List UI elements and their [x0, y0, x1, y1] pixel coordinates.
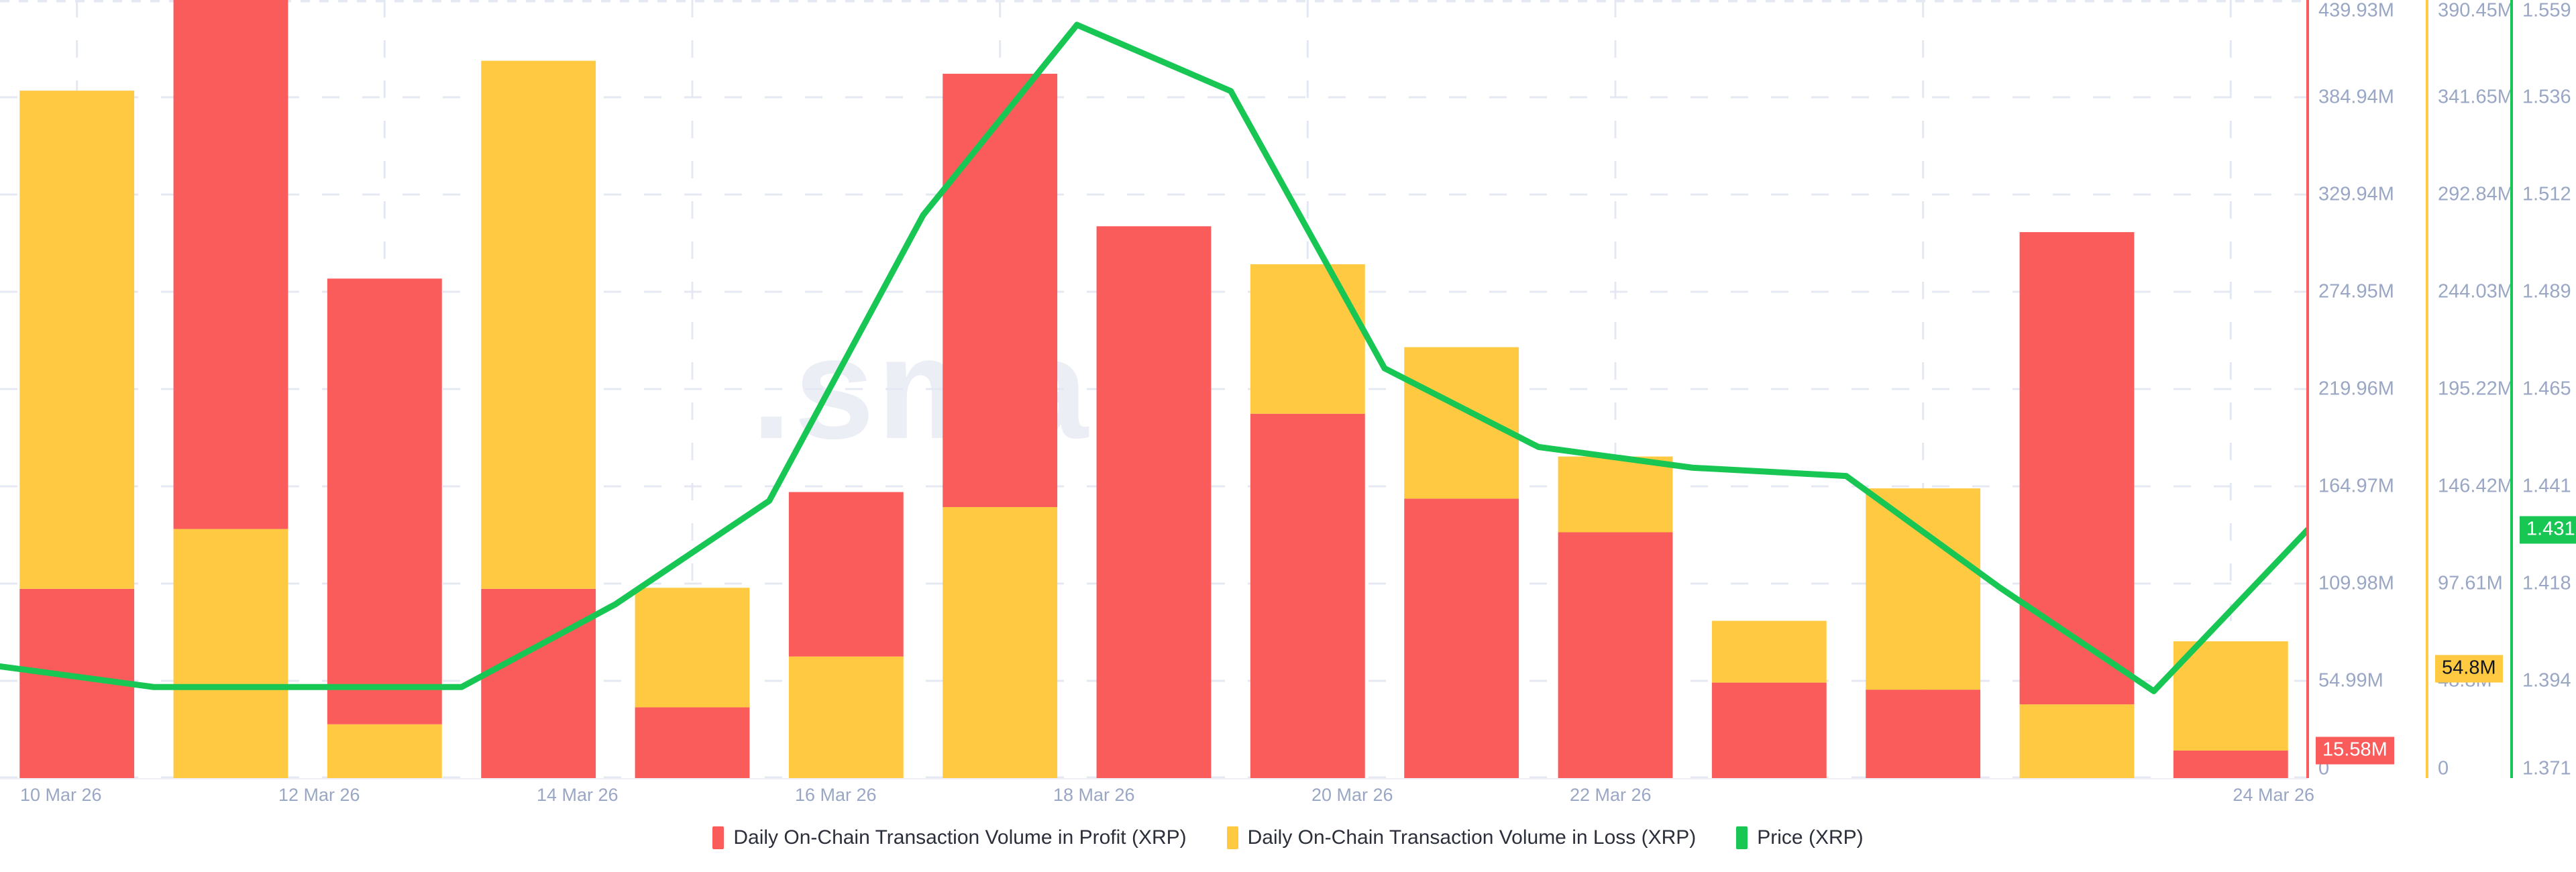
- axis-tick-label: 195.22M: [2438, 378, 2514, 400]
- axis-rule-profit: [2306, 0, 2309, 778]
- stacked-bar[interactable]: [2173, 641, 2288, 778]
- axis-tick-label: 274.95M: [2318, 281, 2394, 303]
- legend-label: Price (XRP): [1757, 826, 1863, 849]
- bar-segment-profit[interactable]: [1404, 498, 1519, 778]
- bar-segment-loss[interactable]: [19, 91, 134, 589]
- x-axis-tick-label: 10 Mar 26: [20, 785, 102, 806]
- bar-segment-loss[interactable]: [174, 529, 288, 778]
- axis-tick-label: 341.65M: [2438, 87, 2514, 109]
- x-axis-tick-label: 14 Mar 26: [537, 785, 619, 806]
- axis-value-badge: 15.58M: [2316, 737, 2394, 764]
- legend-swatch-icon: [712, 826, 724, 849]
- bar-segment-loss[interactable]: [1866, 488, 1980, 690]
- right-axis-profit: 439.93M384.94M329.94M274.95M219.96M164.9…: [2306, 0, 2434, 778]
- bar-segment-profit[interactable]: [2020, 232, 2135, 704]
- bar-segment-profit[interactable]: [635, 708, 750, 778]
- bar-segment-profit[interactable]: [1558, 532, 1673, 778]
- bar-segment-loss[interactable]: [789, 657, 904, 778]
- stacked-bar[interactable]: [1404, 347, 1519, 778]
- chart-legend[interactable]: Daily On-Chain Transaction Volume in Pro…: [0, 826, 2576, 849]
- bar-segment-loss[interactable]: [1558, 457, 1673, 533]
- x-axis-tick-label: 20 Mar 26: [1311, 785, 1393, 806]
- axis-tick-label: 54.99M: [2318, 670, 2383, 692]
- axis-tick-label: 1.536: [2522, 87, 2571, 109]
- axis-tick-label: 439.93M: [2318, 0, 2394, 22]
- axis-tick-label: 146.42M: [2438, 476, 2514, 498]
- bar-segment-profit[interactable]: [789, 492, 904, 657]
- bar-segment-loss[interactable]: [481, 61, 596, 589]
- legend-swatch-icon: [1736, 826, 1748, 849]
- bar-segment-loss[interactable]: [1250, 264, 1365, 414]
- stacked-bar[interactable]: [1712, 621, 1827, 778]
- stacked-bar[interactable]: [635, 588, 750, 778]
- axis-tick-label: 0: [2438, 758, 2449, 780]
- axis-tick-label: 164.97M: [2318, 476, 2394, 498]
- bar-segment-loss[interactable]: [327, 724, 442, 778]
- chart-svg: [0, 0, 2308, 778]
- x-axis-tick-label: 18 Mar 26: [1053, 785, 1135, 806]
- stacked-bar[interactable]: [1250, 264, 1365, 778]
- axis-tick-label: 244.03M: [2438, 281, 2514, 303]
- axis-tick-label: 390.45M: [2438, 0, 2514, 22]
- axis-tick-label: 1.512: [2522, 184, 2571, 206]
- x-axis-line: [0, 778, 2308, 779]
- axis-tick-label: 97.61M: [2438, 573, 2503, 595]
- bar-segment-profit[interactable]: [327, 278, 442, 724]
- bar-segment-loss[interactable]: [635, 588, 750, 707]
- bar-segment-profit[interactable]: [1712, 683, 1827, 778]
- axis-tick-label: 1.394: [2522, 670, 2571, 692]
- axis-tick-label: 1.418: [2522, 573, 2571, 595]
- bar-segment-loss[interactable]: [943, 507, 1057, 778]
- legend-swatch-icon: [1227, 826, 1238, 849]
- chart-page: .smar 10 Mar 2612 Mar 2614 Mar 2616 Mar …: [0, 0, 2576, 872]
- axis-tick-label: 1.465: [2522, 378, 2571, 400]
- axis-rule-loss: [2426, 0, 2428, 778]
- stacked-bar[interactable]: [174, 0, 288, 778]
- axis-tick-label: 1.489: [2522, 281, 2571, 303]
- bar-segment-loss[interactable]: [2173, 641, 2288, 751]
- x-axis-tick-label: 22 Mar 26: [1570, 785, 1652, 806]
- bar-segment-profit[interactable]: [481, 589, 596, 778]
- bar-segment-profit[interactable]: [1097, 226, 1212, 778]
- legend-label: Daily On-Chain Transaction Volume in Pro…: [733, 826, 1186, 849]
- legend-item[interactable]: Price (XRP): [1736, 826, 1863, 849]
- legend-item[interactable]: Daily On-Chain Transaction Volume in Los…: [1227, 826, 1697, 849]
- legend-label: Daily On-Chain Transaction Volume in Los…: [1248, 826, 1697, 849]
- axis-rule-price: [2510, 0, 2513, 778]
- axis-tick-label: 1.441: [2522, 476, 2571, 498]
- x-axis-tick-label: 24 Mar 26: [2233, 785, 2314, 806]
- axis-value-badge: 1.431: [2520, 516, 2576, 543]
- chart-plot-area[interactable]: [0, 0, 2308, 778]
- stacked-bar[interactable]: [1097, 226, 1212, 778]
- axis-tick-label: 1.371: [2522, 758, 2571, 780]
- stacked-bar[interactable]: [789, 492, 904, 778]
- stacked-bar[interactable]: [2020, 232, 2135, 778]
- bar-segment-profit[interactable]: [943, 74, 1057, 507]
- stacked-bar[interactable]: [943, 74, 1057, 778]
- bar-segment-profit[interactable]: [174, 0, 288, 529]
- axis-tick-label: 384.94M: [2318, 87, 2394, 109]
- bar-segment-loss[interactable]: [1404, 347, 1519, 499]
- axis-tick-label: 329.94M: [2318, 184, 2394, 206]
- bar-segment-profit[interactable]: [1866, 690, 1980, 778]
- right-axis-price: 1.5591.5361.5121.4891.4651.4411.4181.394…: [2510, 0, 2576, 778]
- axis-tick-label: 1.559: [2522, 0, 2571, 22]
- axis-value-badge: 54.8M: [2435, 655, 2503, 683]
- axis-tick-label: 292.84M: [2438, 184, 2514, 206]
- bar-segment-profit[interactable]: [2173, 751, 2288, 778]
- bar-segment-loss[interactable]: [1712, 621, 1827, 683]
- axis-tick-label: 109.98M: [2318, 573, 2394, 595]
- legend-item[interactable]: Daily On-Chain Transaction Volume in Pro…: [712, 826, 1186, 849]
- stacked-bar[interactable]: [327, 278, 442, 778]
- axis-tick-label: 219.96M: [2318, 378, 2394, 400]
- bar-segment-loss[interactable]: [2020, 704, 2135, 778]
- x-axis-tick-label: 16 Mar 26: [795, 785, 877, 806]
- stacked-bar[interactable]: [1558, 457, 1673, 778]
- bar-segment-profit[interactable]: [1250, 414, 1365, 778]
- x-axis-tick-label: 12 Mar 26: [278, 785, 360, 806]
